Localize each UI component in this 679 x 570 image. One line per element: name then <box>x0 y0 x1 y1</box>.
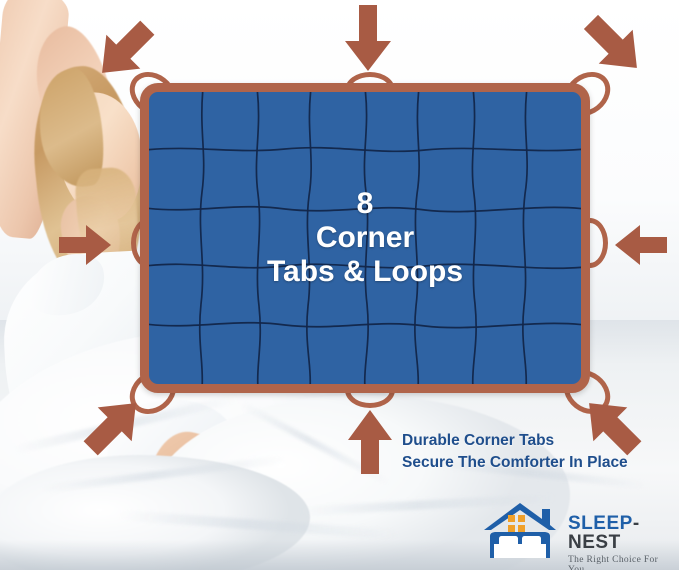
arrow-middle-right <box>606 218 674 272</box>
brand-logo: SLEEP-NEST The Right Choice For You <box>480 500 676 562</box>
marketing-image-canvas: 8 Corner Tabs & Loops <box>0 0 679 570</box>
house-bed-icon <box>480 500 566 562</box>
caption-line-2: Secure The Comforter In Place <box>402 452 628 474</box>
caption-line-1: Durable Corner Tabs <box>402 430 628 452</box>
arrow-top-left <box>88 18 160 84</box>
quilt-stitching <box>149 92 581 384</box>
arrow-middle-left <box>52 218 120 272</box>
comforter-panel <box>140 83 590 393</box>
logo-name: SLEEP-NEST <box>568 514 676 552</box>
arrow-top-right <box>578 12 652 80</box>
caption-block: Durable Corner Tabs Secure The Comforter… <box>402 430 628 475</box>
arrow-top-center <box>340 5 396 73</box>
comforter-illustration <box>140 83 590 393</box>
logo-text-block: SLEEP-NEST The Right Choice For You <box>568 514 676 570</box>
logo-tagline: The Right Choice For You <box>568 555 676 570</box>
arrow-bottom-left <box>78 392 150 458</box>
arrow-bottom-center <box>343 408 397 474</box>
logo-name-primary: SLEEP <box>568 513 633 534</box>
